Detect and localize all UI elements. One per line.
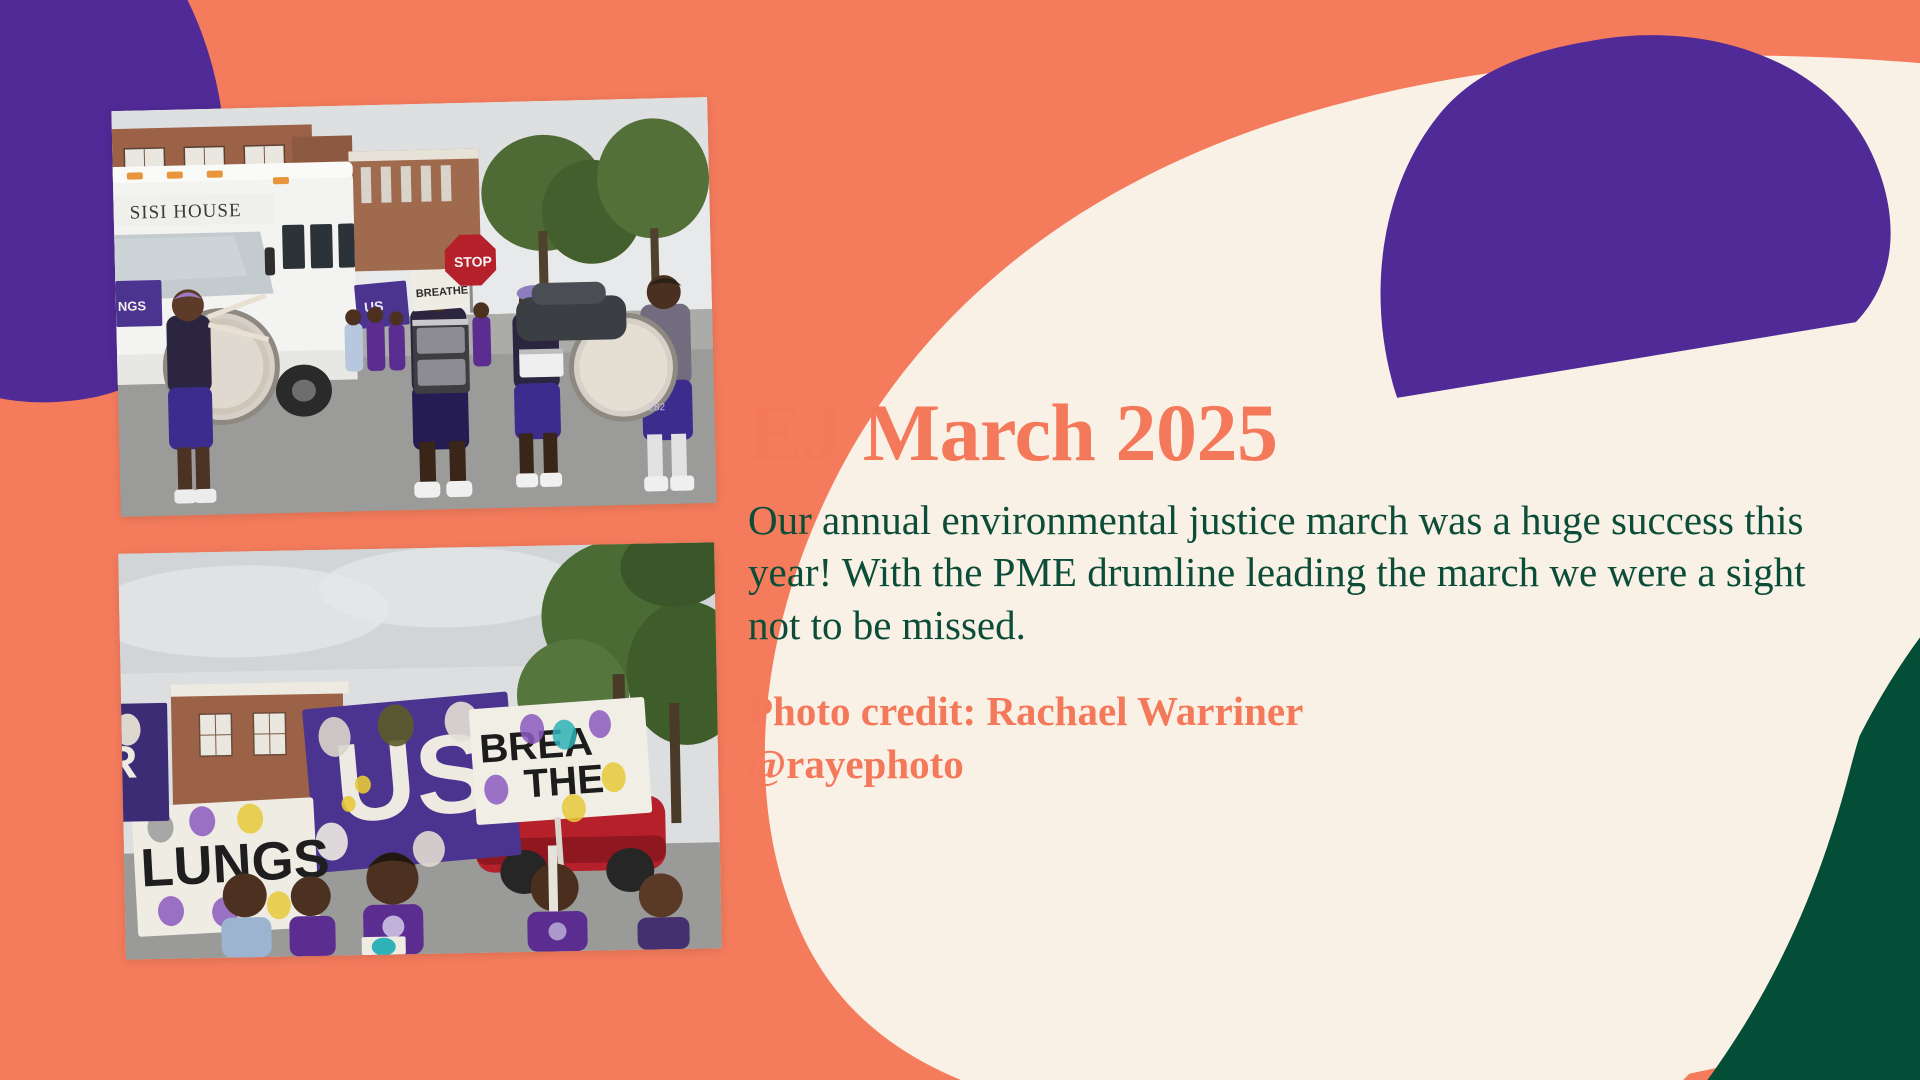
body-paragraph: Our annual environmental justice march w…: [748, 494, 1813, 651]
photo-protest-signs[interactable]: STOP US: [118, 542, 722, 959]
photo-drumline-illustration: SISI HOUSE: [111, 97, 716, 517]
svg-text:STOP: STOP: [454, 253, 492, 270]
photo-drumline-march[interactable]: SISI HOUSE: [111, 97, 716, 517]
photo-protest-illustration: STOP US: [118, 542, 722, 959]
photo-credit: Photo credit: Rachael Warriner @rayephot…: [748, 685, 1548, 790]
photo-credit-line-1: Photo credit: Rachael Warriner: [748, 688, 1303, 734]
svg-text:NGS: NGS: [118, 298, 147, 314]
svg-text:SISI HOUSE: SISI HOUSE: [129, 200, 241, 224]
text-content-block: EJ March 2025 Our annual environmental j…: [748, 392, 1828, 790]
page-title: EJ March 2025: [748, 392, 1828, 474]
sign-partial-left: R: [118, 703, 169, 822]
svg-text:THE: THE: [522, 757, 605, 807]
poster-canvas: SISI HOUSE: [0, 0, 1920, 1080]
svg-text:282: 282: [648, 402, 665, 413]
photo-credit-handle: @rayephoto: [748, 741, 964, 787]
